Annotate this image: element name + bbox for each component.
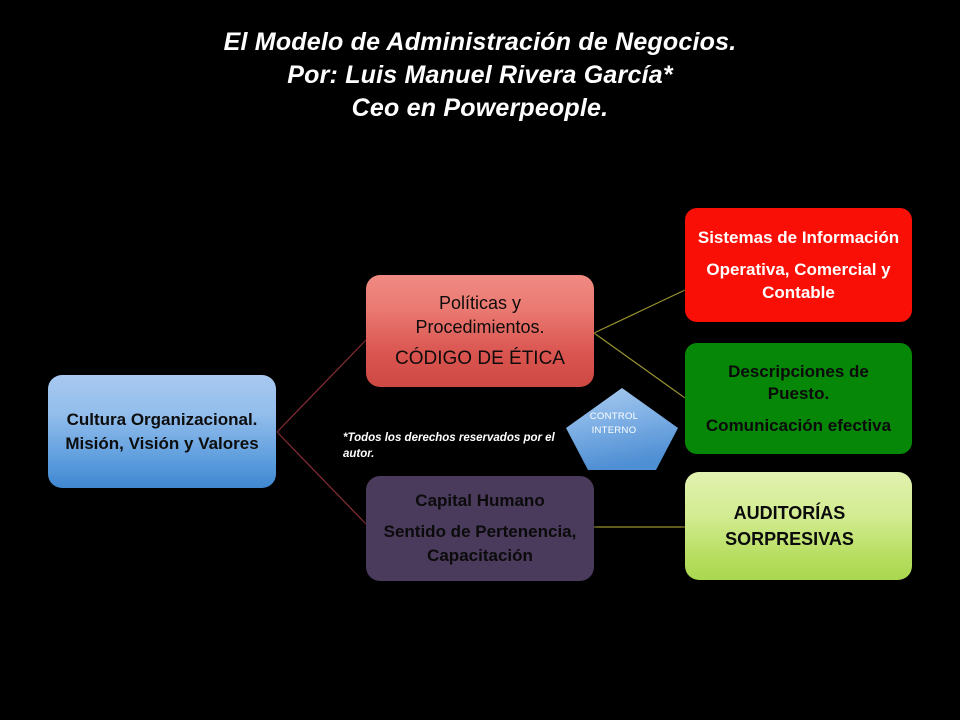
- node-cultura-label: Cultura Organizacional. Misión, Visión y…: [65, 408, 258, 456]
- node-politicas-label-secondary: CÓDIGO DE ÉTICA: [395, 346, 565, 372]
- node-auditorias-label: AUDITORÍAS SORPRESIVAS: [725, 500, 854, 552]
- node-control-interno[interactable]: CONTROL INTERNO: [566, 388, 678, 470]
- title-line-3: Ceo en Powerpeople.: [0, 92, 960, 125]
- node-capital-label-secondary: Sentido de Pertenencia, Capacitación: [384, 520, 577, 568]
- title-line-1: El Modelo de Administración de Negocios.: [0, 26, 960, 59]
- slide-canvas: El Modelo de Administración de Negocios.…: [0, 0, 960, 720]
- node-sistemas-label-secondary: Operativa, Comercial y Contable: [706, 258, 890, 304]
- node-capital-label-primary: Capital Humano: [415, 490, 544, 512]
- node-politicas-label-primary: Políticas y Procedimientos.: [415, 291, 544, 339]
- node-capital-humano[interactable]: Capital Humano Sentido de Pertenencia, C…: [366, 476, 594, 581]
- node-descripciones-puesto[interactable]: Descripciones de Puesto. Comunicación ef…: [685, 343, 912, 454]
- node-sistemas-label-primary: Sistemas de Información: [698, 227, 899, 249]
- page-title: El Modelo de Administración de Negocios.…: [0, 26, 960, 125]
- title-line-2: Por: Luis Manuel Rivera García*: [0, 59, 960, 92]
- node-sistemas-informacion[interactable]: Sistemas de Información Operativa, Comer…: [685, 208, 912, 322]
- node-control-label-line2: INTERNO: [558, 424, 670, 438]
- connector-politicas-sistemas: [594, 290, 685, 333]
- node-descripciones-label-secondary: Comunicación efectiva: [706, 414, 891, 437]
- node-politicas-procedimientos[interactable]: Políticas y Procedimientos. CÓDIGO DE ÉT…: [366, 275, 594, 387]
- node-control-label: CONTROL INTERNO: [558, 410, 670, 438]
- node-control-label-line1: CONTROL: [558, 410, 670, 424]
- node-auditorias-sorpresivas[interactable]: AUDITORÍAS SORPRESIVAS: [685, 472, 912, 580]
- node-cultura-organizacional[interactable]: Cultura Organizacional. Misión, Visión y…: [48, 375, 276, 488]
- node-descripciones-label-primary: Descripciones de Puesto.: [728, 361, 869, 405]
- copyright-note: *Todos los derechos reservados por el au…: [343, 430, 558, 462]
- connector-cultura-politicas: [277, 340, 366, 432]
